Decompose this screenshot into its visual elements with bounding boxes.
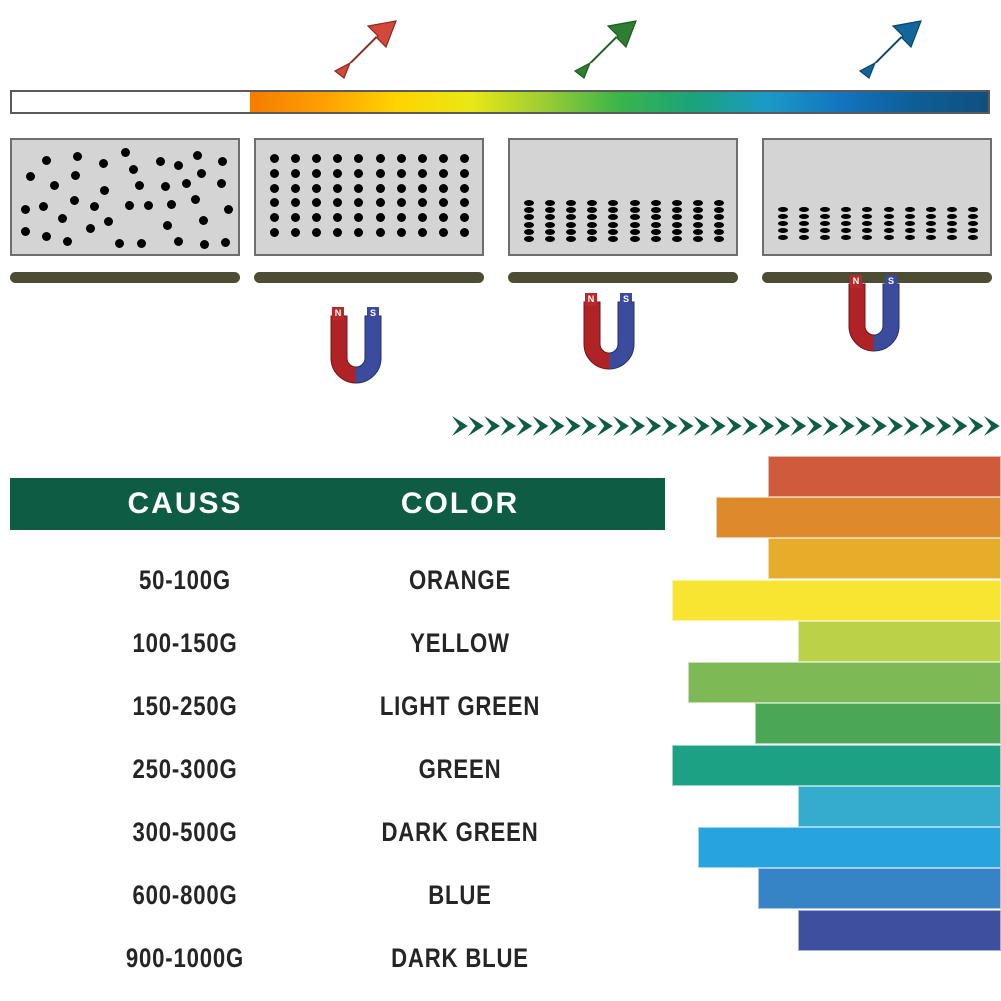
particle-dot [778, 207, 788, 212]
panel-grid-particles [254, 138, 484, 256]
particle-dot [224, 205, 233, 214]
particle-dot [926, 235, 936, 240]
magnet-horseshoe-1: NS [325, 310, 387, 392]
particle-dot [418, 228, 427, 237]
particle-dot [608, 229, 618, 235]
particle-dot [672, 200, 682, 206]
particle-dot [714, 207, 724, 213]
particle-dot [947, 214, 957, 219]
particle-dot [714, 222, 724, 228]
particle-dot [191, 195, 200, 204]
arrow-green-icon [570, 18, 642, 90]
particle-dot [333, 213, 342, 222]
color-scale-bar [672, 745, 1001, 786]
particle-dot [199, 216, 208, 225]
particle-dot [714, 229, 724, 235]
particle-dot [947, 235, 957, 240]
particle-dot [926, 221, 936, 226]
particle-dot [90, 202, 99, 211]
particle-dot [524, 236, 534, 242]
particle-dot [862, 207, 872, 212]
cell-color-name: BLUE [366, 875, 555, 915]
particle-dot [799, 235, 809, 240]
particle-dot [714, 214, 724, 220]
particle-dot [121, 148, 130, 157]
color-scale-bar [755, 703, 1001, 744]
cell-gauss-range: 50-100G [91, 560, 280, 600]
particle-dot [672, 236, 682, 242]
particle-dot [587, 207, 597, 213]
cell-color-name: DARK GREEN [366, 812, 555, 852]
table-row: 600-800GBLUE [10, 875, 665, 915]
particle-dot [376, 213, 385, 222]
particle-dot [693, 222, 703, 228]
particle-dot [354, 184, 363, 193]
particle-dot [197, 169, 206, 178]
particle-dot [376, 184, 385, 193]
particle-dot [42, 232, 51, 241]
particle-dot [672, 207, 682, 213]
particle-dot [460, 154, 469, 163]
panel-random-particles [10, 138, 240, 256]
particle-dot [460, 169, 469, 178]
magnet-horseshoe-2: NS [578, 296, 640, 378]
particle-dot [608, 207, 618, 213]
particle-dot [418, 213, 427, 222]
particle-dot [524, 207, 534, 213]
magnet-horseshoe-3: NS [843, 278, 905, 360]
particle-dot [86, 224, 95, 233]
particle-dot [545, 207, 555, 213]
particle-dot [524, 200, 534, 206]
particle-dot [672, 214, 682, 220]
particle-dot [354, 228, 363, 237]
particle-dot [312, 213, 321, 222]
particle-dot [167, 200, 176, 209]
particle-dot [545, 214, 555, 220]
particle-dot [397, 169, 406, 178]
particle-dot [135, 181, 144, 190]
cell-gauss-range: 100-150G [91, 623, 280, 663]
particle-dot [174, 237, 183, 246]
particle-dot [137, 239, 146, 248]
particle-dot [333, 169, 342, 178]
particle-dot [884, 214, 894, 219]
particle-dot [21, 205, 30, 214]
horseshoe-magnet-icon [843, 278, 905, 360]
cell-color-name: GREEN [366, 749, 555, 789]
particle-dot [354, 169, 363, 178]
particle-dot [841, 207, 851, 212]
particle-dot [947, 228, 957, 233]
particle-dot [926, 207, 936, 212]
particle-dot [651, 207, 661, 213]
particle-dot [418, 184, 427, 193]
particle-dot [291, 169, 300, 178]
particle-dot [354, 198, 363, 207]
particle-dot [799, 221, 809, 226]
particle-dot [862, 235, 872, 240]
cell-gauss-range: 600-800G [91, 875, 280, 915]
particle-dot [200, 240, 209, 249]
particle-dot [418, 169, 427, 178]
particle-dot [693, 229, 703, 235]
particle-dot [397, 228, 406, 237]
table-row: 100-150GYELLOW [10, 623, 665, 663]
color-scale-bar [716, 497, 1001, 538]
particle-dot [439, 228, 448, 237]
particle-dot [630, 236, 640, 242]
particle-dot [947, 207, 957, 212]
particle-dot [524, 222, 534, 228]
particle-dot [291, 198, 300, 207]
magnet-north-pole-label: N [332, 307, 344, 320]
particle-dot [104, 217, 113, 226]
color-scale-bar [798, 910, 1001, 951]
particle-dot [778, 235, 788, 240]
particle-dot [397, 154, 406, 163]
particle-dot [376, 169, 385, 178]
particle-dot [778, 221, 788, 226]
chevron-arrow-icon [452, 408, 1000, 444]
particle-dot [270, 198, 279, 207]
color-scale-bar [798, 621, 1001, 662]
particle-dot [291, 184, 300, 193]
particle-dot [926, 228, 936, 233]
particle-dot [100, 186, 109, 195]
particle-dot [26, 172, 35, 181]
particle-dot [63, 237, 72, 246]
particle-dot [312, 169, 321, 178]
particle-dot [841, 214, 851, 219]
particle-dot [156, 157, 165, 166]
particle-dot [587, 236, 597, 242]
particle-dot [651, 222, 661, 228]
particle-dot [566, 236, 576, 242]
plate-bar-3 [508, 272, 738, 283]
color-scale-bar [672, 580, 1001, 621]
particle-dot [693, 236, 703, 242]
particle-dot [778, 214, 788, 219]
particle-dot [524, 214, 534, 220]
particle-dot [333, 154, 342, 163]
particle-dot [460, 228, 469, 237]
horseshoe-magnet-icon [578, 296, 640, 378]
table-row: 900-1000GDARK BLUE [10, 938, 665, 978]
color-scale-bar [798, 786, 1001, 827]
particle-dot [397, 198, 406, 207]
particle-dot [129, 165, 138, 174]
particle-dot [820, 221, 830, 226]
particle-dot [820, 228, 830, 233]
particle-dot [221, 238, 230, 247]
particle-dot [397, 184, 406, 193]
particle-dot [630, 207, 640, 213]
particle-dot [545, 236, 555, 242]
particle-dot [312, 184, 321, 193]
particle-dot [905, 235, 915, 240]
particle-dot [460, 198, 469, 207]
particle-dot [270, 169, 279, 178]
table-row: 50-100GORANGE [10, 560, 665, 600]
particle-dot [862, 228, 872, 233]
particle-dot [714, 236, 724, 242]
particle-dot [841, 235, 851, 240]
particle-dot [968, 221, 978, 226]
cell-color-name: ORANGE [366, 560, 555, 600]
particle-dot [163, 221, 172, 230]
particle-dot [608, 236, 618, 242]
particle-dot [566, 229, 576, 235]
table-row: 300-500GDARK GREEN [10, 812, 665, 852]
particle-dot [439, 198, 448, 207]
particle-dot [968, 235, 978, 240]
particle-dot [587, 229, 597, 235]
panel-attracted-particles-2 [762, 138, 992, 256]
particle-dot [460, 213, 469, 222]
magnet-north-pole-label: N [585, 293, 597, 306]
cell-gauss-range: 150-250G [91, 686, 280, 726]
particle-dot [841, 228, 851, 233]
cell-color-name: LIGHT GREEN [366, 686, 555, 726]
particle-dot [270, 154, 279, 163]
color-scale-bar [768, 456, 1001, 497]
particle-dot [545, 229, 555, 235]
particle-dot [312, 228, 321, 237]
plate-bar-2 [254, 272, 484, 283]
particle-dot [397, 213, 406, 222]
particle-dot [820, 214, 830, 219]
particle-dot [524, 229, 534, 235]
panel-attracted-particles-1 [508, 138, 738, 256]
particle-dot [333, 228, 342, 237]
particle-dot [545, 222, 555, 228]
particle-dot [884, 235, 894, 240]
column-header-color: COLOR [345, 478, 575, 530]
gauss-gradient-bar [10, 90, 990, 114]
particle-dot [376, 154, 385, 163]
color-scale-bar [698, 827, 1001, 868]
particle-dot [862, 214, 872, 219]
particle-dot [820, 207, 830, 212]
particle-dot [630, 214, 640, 220]
particle-dot [884, 207, 894, 212]
particle-dot [73, 152, 82, 161]
particle-dot [71, 171, 80, 180]
particle-dot [841, 221, 851, 226]
particle-dot [58, 214, 67, 223]
particle-dot [587, 200, 597, 206]
particle-dot [608, 222, 618, 228]
particle-dot [144, 201, 153, 210]
column-header-gauss: CAUSS [70, 478, 300, 530]
plate-bar-1 [10, 272, 240, 283]
particle-dot [968, 228, 978, 233]
particle-dot [566, 214, 576, 220]
gauss-gradient-fill [250, 92, 988, 112]
particle-dot [693, 214, 703, 220]
particle-dot [125, 201, 134, 210]
particle-dot [418, 154, 427, 163]
particle-dot [182, 179, 191, 188]
particle-dot [926, 214, 936, 219]
chevron-arrow-divider [452, 408, 1000, 444]
particle-dot [693, 200, 703, 206]
particle-dot [545, 200, 555, 206]
magnet-south-pole-label: S [367, 307, 379, 320]
particle-dot [651, 236, 661, 242]
particle-dot [566, 222, 576, 228]
particle-dot [312, 198, 321, 207]
particle-dot [884, 221, 894, 226]
particle-dot [312, 154, 321, 163]
particle-dot [439, 169, 448, 178]
diagram-canvas: NSNSNS CAUSS COLOR 50-100GORANGE100-150G… [0, 0, 1001, 1001]
particle-dot [587, 214, 597, 220]
particle-dot [651, 200, 661, 206]
cell-gauss-range: 300-500G [91, 812, 280, 852]
particle-dot [115, 239, 124, 248]
particle-dot [905, 214, 915, 219]
particle-dot [884, 228, 894, 233]
particle-dot [218, 157, 227, 166]
particle-dot [672, 229, 682, 235]
particle-dot [905, 207, 915, 212]
particle-dot [460, 184, 469, 193]
particle-dot [291, 228, 300, 237]
particle-dot [291, 154, 300, 163]
magnet-north-pole-label: N [850, 275, 862, 288]
particle-dot [820, 235, 830, 240]
cell-color-name: DARK BLUE [366, 938, 555, 978]
particle-dot [70, 196, 79, 205]
arrow-red-icon [330, 18, 402, 90]
particle-dot [354, 154, 363, 163]
table-row: 150-250GLIGHT GREEN [10, 686, 665, 726]
particle-dot [862, 221, 872, 226]
particle-dot [968, 214, 978, 219]
particle-dot [630, 229, 640, 235]
particle-dot [99, 159, 108, 168]
particle-dot [566, 200, 576, 206]
particle-dot [174, 161, 183, 170]
particle-dot [50, 181, 59, 190]
cell-color-name: YELLOW [366, 623, 555, 663]
color-scale-bar [758, 868, 1001, 909]
particle-dot [376, 198, 385, 207]
particle-dot [270, 213, 279, 222]
particle-dot [439, 213, 448, 222]
particle-dot [968, 207, 978, 212]
particle-dot [905, 221, 915, 226]
magnet-south-pole-label: S [620, 293, 632, 306]
color-scale-bar [688, 662, 1001, 703]
particle-dot [193, 151, 202, 160]
particle-dot [291, 213, 300, 222]
particle-dot [42, 156, 51, 165]
arrow-blue-icon [855, 18, 927, 90]
particle-dot [799, 214, 809, 219]
particle-dot [714, 200, 724, 206]
table-row: 250-300GGREEN [10, 749, 665, 789]
particle-dot [630, 222, 640, 228]
particle-dot [270, 184, 279, 193]
table-header: CAUSS COLOR [10, 478, 665, 530]
particle-dot [39, 202, 48, 211]
particle-dot [333, 198, 342, 207]
particle-dot [905, 228, 915, 233]
particle-dot [608, 200, 618, 206]
particle-dot [439, 154, 448, 163]
particle-dot [270, 228, 279, 237]
particle-dot [672, 222, 682, 228]
particle-dot [587, 222, 597, 228]
particle-dot [947, 221, 957, 226]
cell-gauss-range: 250-300G [91, 749, 280, 789]
particle-dot [161, 182, 170, 191]
color-scale-bar [768, 538, 1001, 579]
particle-dot [566, 207, 576, 213]
particle-dot [651, 229, 661, 235]
particle-dot [418, 198, 427, 207]
particle-dot [778, 228, 788, 233]
particle-dot [799, 228, 809, 233]
particle-dot [217, 179, 226, 188]
cell-gauss-range: 900-1000G [91, 938, 280, 978]
horseshoe-magnet-icon [325, 310, 387, 392]
particle-dot [630, 200, 640, 206]
magnet-south-pole-label: S [885, 275, 897, 288]
particle-dot [376, 228, 385, 237]
particle-dot [693, 207, 703, 213]
particle-dot [354, 213, 363, 222]
particle-dot [799, 207, 809, 212]
particle-dot [651, 214, 661, 220]
particle-dot [608, 214, 618, 220]
particle-dot [21, 227, 30, 236]
particle-dot [439, 184, 448, 193]
particle-dot [333, 184, 342, 193]
